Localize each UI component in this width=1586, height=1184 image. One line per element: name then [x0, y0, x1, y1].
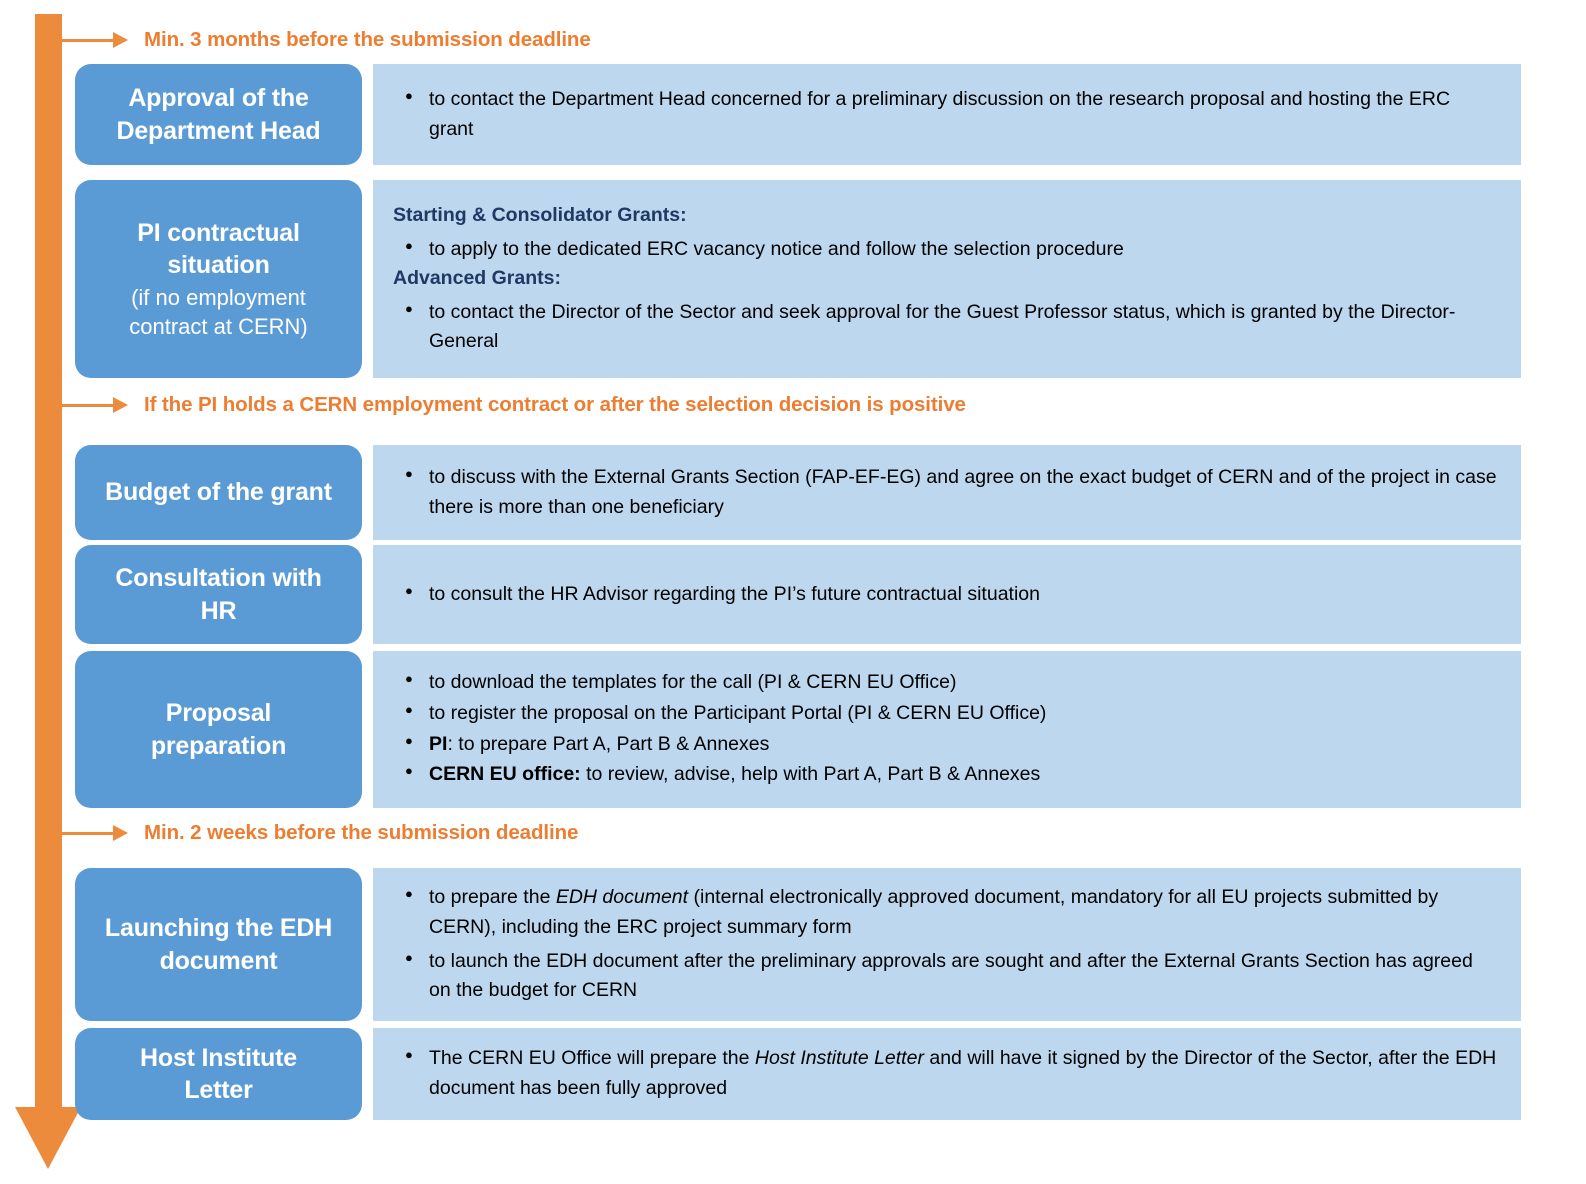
detail-panel-proposal-preparation: to download the templates for the call (…: [373, 651, 1521, 808]
step-box-launching-the-edh-document[interactable]: Launching the EDHdocument: [75, 868, 362, 1021]
step-row-consultation-with-hr: Consultation withHRto consult the HR Adv…: [75, 545, 1521, 644]
milestone-arrow-line: [62, 404, 114, 407]
milestone-arrow-line: [62, 832, 114, 835]
bullet-text: to download the templates for the call (…: [429, 671, 956, 693]
step-box-budget-of-the-grant[interactable]: Budget of the grant: [75, 445, 362, 540]
step-title: Host InstituteLetter: [140, 1042, 297, 1107]
detail-bullet-list: to download the templates for the call (…: [391, 668, 1499, 791]
detail-bullet-list: The CERN EU Office will prepare the Host…: [391, 1044, 1499, 1103]
detail-bullet-item: to download the templates for the call (…: [391, 668, 1499, 698]
detail-group-heading: Advanced Grants:: [393, 266, 1499, 291]
step-box-pi-contractual-situation[interactable]: PI contractualsituation(if no employment…: [75, 180, 362, 378]
detail-panel-pi-contractual-situation: Starting & Consolidator Grants:to apply …: [373, 180, 1521, 378]
step-box-proposal-preparation[interactable]: Proposalpreparation: [75, 651, 362, 808]
detail-bullet-item: to contact the Director of the Sector an…: [391, 298, 1499, 357]
milestone-label: If the PI holds a CERN employment contra…: [144, 393, 966, 417]
detail-bullet-item: PI: to prepare Part A, Part B & Annexes: [391, 730, 1499, 760]
milestone-arrow-head-icon: [113, 825, 128, 841]
detail-bullet-item: to register the proposal on the Particip…: [391, 699, 1499, 729]
detail-bullet-list: to prepare the EDH document (internal el…: [391, 883, 1499, 1006]
bullet-text: to register the proposal on the Particip…: [429, 702, 1046, 724]
step-title-line: document: [105, 945, 332, 977]
bullet-text: to contact the Department Head concerned…: [429, 88, 1450, 140]
bullet-text: to contact the Director of the Sector an…: [429, 301, 1455, 353]
step-title: Budget of the grant: [105, 476, 332, 508]
step-box-host-institute-letter[interactable]: Host InstituteLetter: [75, 1028, 362, 1120]
step-title-line: PI contractual: [137, 217, 300, 249]
bullet-text: The CERN EU Office will prepare the: [429, 1047, 755, 1069]
step-row-proposal-preparation: Proposalpreparationto download the templ…: [75, 651, 1521, 808]
bullet-text-bold: PI: [429, 733, 447, 755]
detail-bullet-list: to apply to the dedicated ERC vacancy no…: [391, 235, 1499, 265]
detail-bullet-item: to discuss with the External Grants Sect…: [391, 463, 1499, 522]
milestone-label: Min. 3 months before the submission dead…: [144, 28, 591, 52]
bullet-text: to review, advise, help with Part A, Par…: [581, 763, 1041, 785]
flowchart-canvas: Min. 3 months before the submission dead…: [0, 0, 1586, 1184]
bullet-text-italic: EDH document: [556, 886, 688, 908]
step-title-line: Launching the EDH: [105, 912, 332, 944]
step-subtitle-line: contract at CERN): [129, 312, 308, 341]
step-title-line: Letter: [140, 1074, 297, 1106]
step-title: Approval of theDepartment Head: [117, 82, 321, 147]
bullet-text: to launch the EDH document after the pre…: [429, 950, 1473, 1002]
milestone-cern-contract: If the PI holds a CERN employment contra…: [62, 391, 966, 419]
step-title: Consultation withHR: [115, 562, 321, 627]
step-title-line: Host Institute: [140, 1042, 297, 1074]
step-title: Proposalpreparation: [151, 697, 286, 762]
detail-panel-consultation-with-hr: to consult the HR Advisor regarding the …: [373, 545, 1521, 644]
step-row-pi-contractual-situation: PI contractualsituation(if no employment…: [75, 180, 1521, 378]
detail-bullet-item: to consult the HR Advisor regarding the …: [391, 580, 1499, 610]
detail-panel-approval-of-the-department-head: to contact the Department Head concerned…: [373, 64, 1521, 165]
step-title-line: Consultation with: [115, 562, 321, 594]
detail-bullet-list: to discuss with the External Grants Sect…: [391, 463, 1499, 522]
step-title: PI contractualsituation: [137, 217, 300, 282]
detail-panel-launching-the-edh-document: to prepare the EDH document (internal el…: [373, 868, 1521, 1021]
detail-bullet-list: to contact the Director of the Sector an…: [391, 298, 1499, 357]
step-subtitle-line: (if no employment: [129, 283, 308, 312]
detail-panel-budget-of-the-grant: to discuss with the External Grants Sect…: [373, 445, 1521, 540]
milestone-arrow-line: [62, 39, 114, 42]
milestone-arrow-head-icon: [113, 32, 128, 48]
milestone-2-weeks: Min. 2 weeks before the submission deadl…: [62, 819, 578, 847]
step-title: Launching the EDHdocument: [105, 912, 332, 977]
milestone-arrow-head-icon: [113, 397, 128, 413]
step-title-line: preparation: [151, 730, 286, 762]
step-box-consultation-with-hr[interactable]: Consultation withHR: [75, 545, 362, 644]
detail-bullet-item: CERN EU office: to review, advise, help …: [391, 760, 1499, 790]
step-row-approval-of-the-department-head: Approval of theDepartment Headto contact…: [75, 64, 1521, 165]
step-row-host-institute-letter: Host InstituteLetterThe CERN EU Office w…: [75, 1028, 1521, 1120]
detail-bullet-list: to contact the Department Head concerned…: [391, 85, 1499, 144]
timeline-arrow-head-icon: [15, 1107, 81, 1169]
detail-group-heading: Starting & Consolidator Grants:: [393, 203, 1499, 228]
bullet-text-italic: Host Institute Letter: [755, 1047, 924, 1069]
bullet-text: : to prepare Part A, Part B & Annexes: [447, 733, 769, 755]
step-row-budget-of-the-grant: Budget of the grantto discuss with the E…: [75, 445, 1521, 540]
bullet-text: to apply to the dedicated ERC vacancy no…: [429, 238, 1124, 260]
step-title-line: Department Head: [117, 115, 321, 147]
step-title-line: HR: [115, 595, 321, 627]
timeline-arrow-shaft: [35, 14, 62, 1114]
bullet-text: to discuss with the External Grants Sect…: [429, 466, 1497, 518]
milestone-label: Min. 2 weeks before the submission deadl…: [144, 821, 578, 845]
step-title-line: Proposal: [151, 697, 286, 729]
bullet-text: to consult the HR Advisor regarding the …: [429, 583, 1040, 605]
milestone-3-months: Min. 3 months before the submission dead…: [62, 26, 591, 54]
detail-bullet-item: to prepare the EDH document (internal el…: [391, 883, 1499, 942]
step-title-line: Approval of the: [117, 82, 321, 114]
detail-panel-host-institute-letter: The CERN EU Office will prepare the Host…: [373, 1028, 1521, 1120]
step-subtitle: (if no employmentcontract at CERN): [129, 283, 308, 342]
detail-bullet-item: The CERN EU Office will prepare the Host…: [391, 1044, 1499, 1103]
bullet-text-bold: CERN EU office:: [429, 763, 581, 785]
detail-bullet-item: to apply to the dedicated ERC vacancy no…: [391, 235, 1499, 265]
bullet-text: to prepare the: [429, 886, 556, 908]
detail-bullet-item: to contact the Department Head concerned…: [391, 85, 1499, 144]
step-title-line: Budget of the grant: [105, 476, 332, 508]
detail-bullet-item: to launch the EDH document after the pre…: [391, 947, 1499, 1006]
step-row-launching-the-edh-document: Launching the EDHdocumentto prepare the …: [75, 868, 1521, 1021]
detail-bullet-list: to consult the HR Advisor regarding the …: [391, 580, 1499, 610]
step-title-line: situation: [137, 249, 300, 281]
step-box-approval-of-the-department-head[interactable]: Approval of theDepartment Head: [75, 64, 362, 165]
